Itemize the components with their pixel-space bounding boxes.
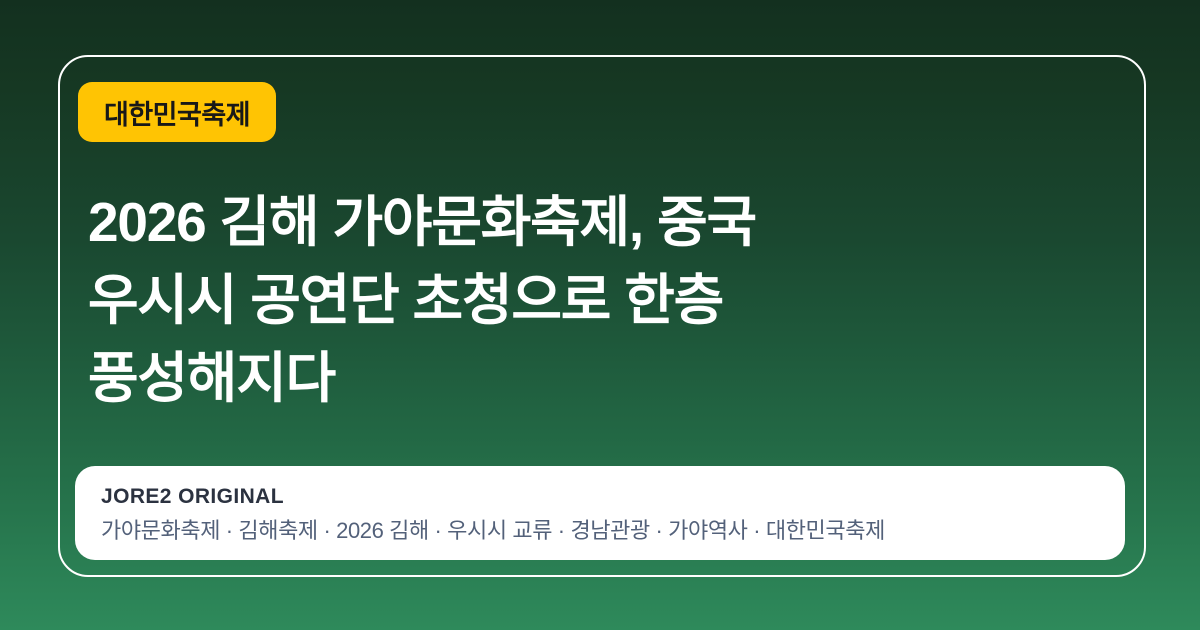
headline-line-1: 2026 김해 가야문화축제, 중국 [88,183,988,261]
category-badge-label: 대한민국축제 [104,93,250,132]
category-badge: 대한민국축제 [78,82,276,142]
headline-line-3: 풍성해지다 [88,339,988,417]
headline: 2026 김해 가야문화축제, 중국 우시시 공연단 초청으로 한층 풍성해지다 [88,183,988,417]
tag-list: 가야문화축제 · 김해축제 · 2026 김해 · 우시시 교류 · 경남관광 … [101,516,1099,546]
og-share-card: 대한민국축제 2026 김해 가야문화축제, 중국 우시시 공연단 초청으로 한… [0,0,1200,630]
footer-card: JORE2 ORIGINAL 가야문화축제 · 김해축제 · 2026 김해 ·… [75,466,1125,560]
headline-line-2: 우시시 공연단 초청으로 한층 [88,261,988,339]
brand-label: JORE2 ORIGINAL [101,484,1099,510]
